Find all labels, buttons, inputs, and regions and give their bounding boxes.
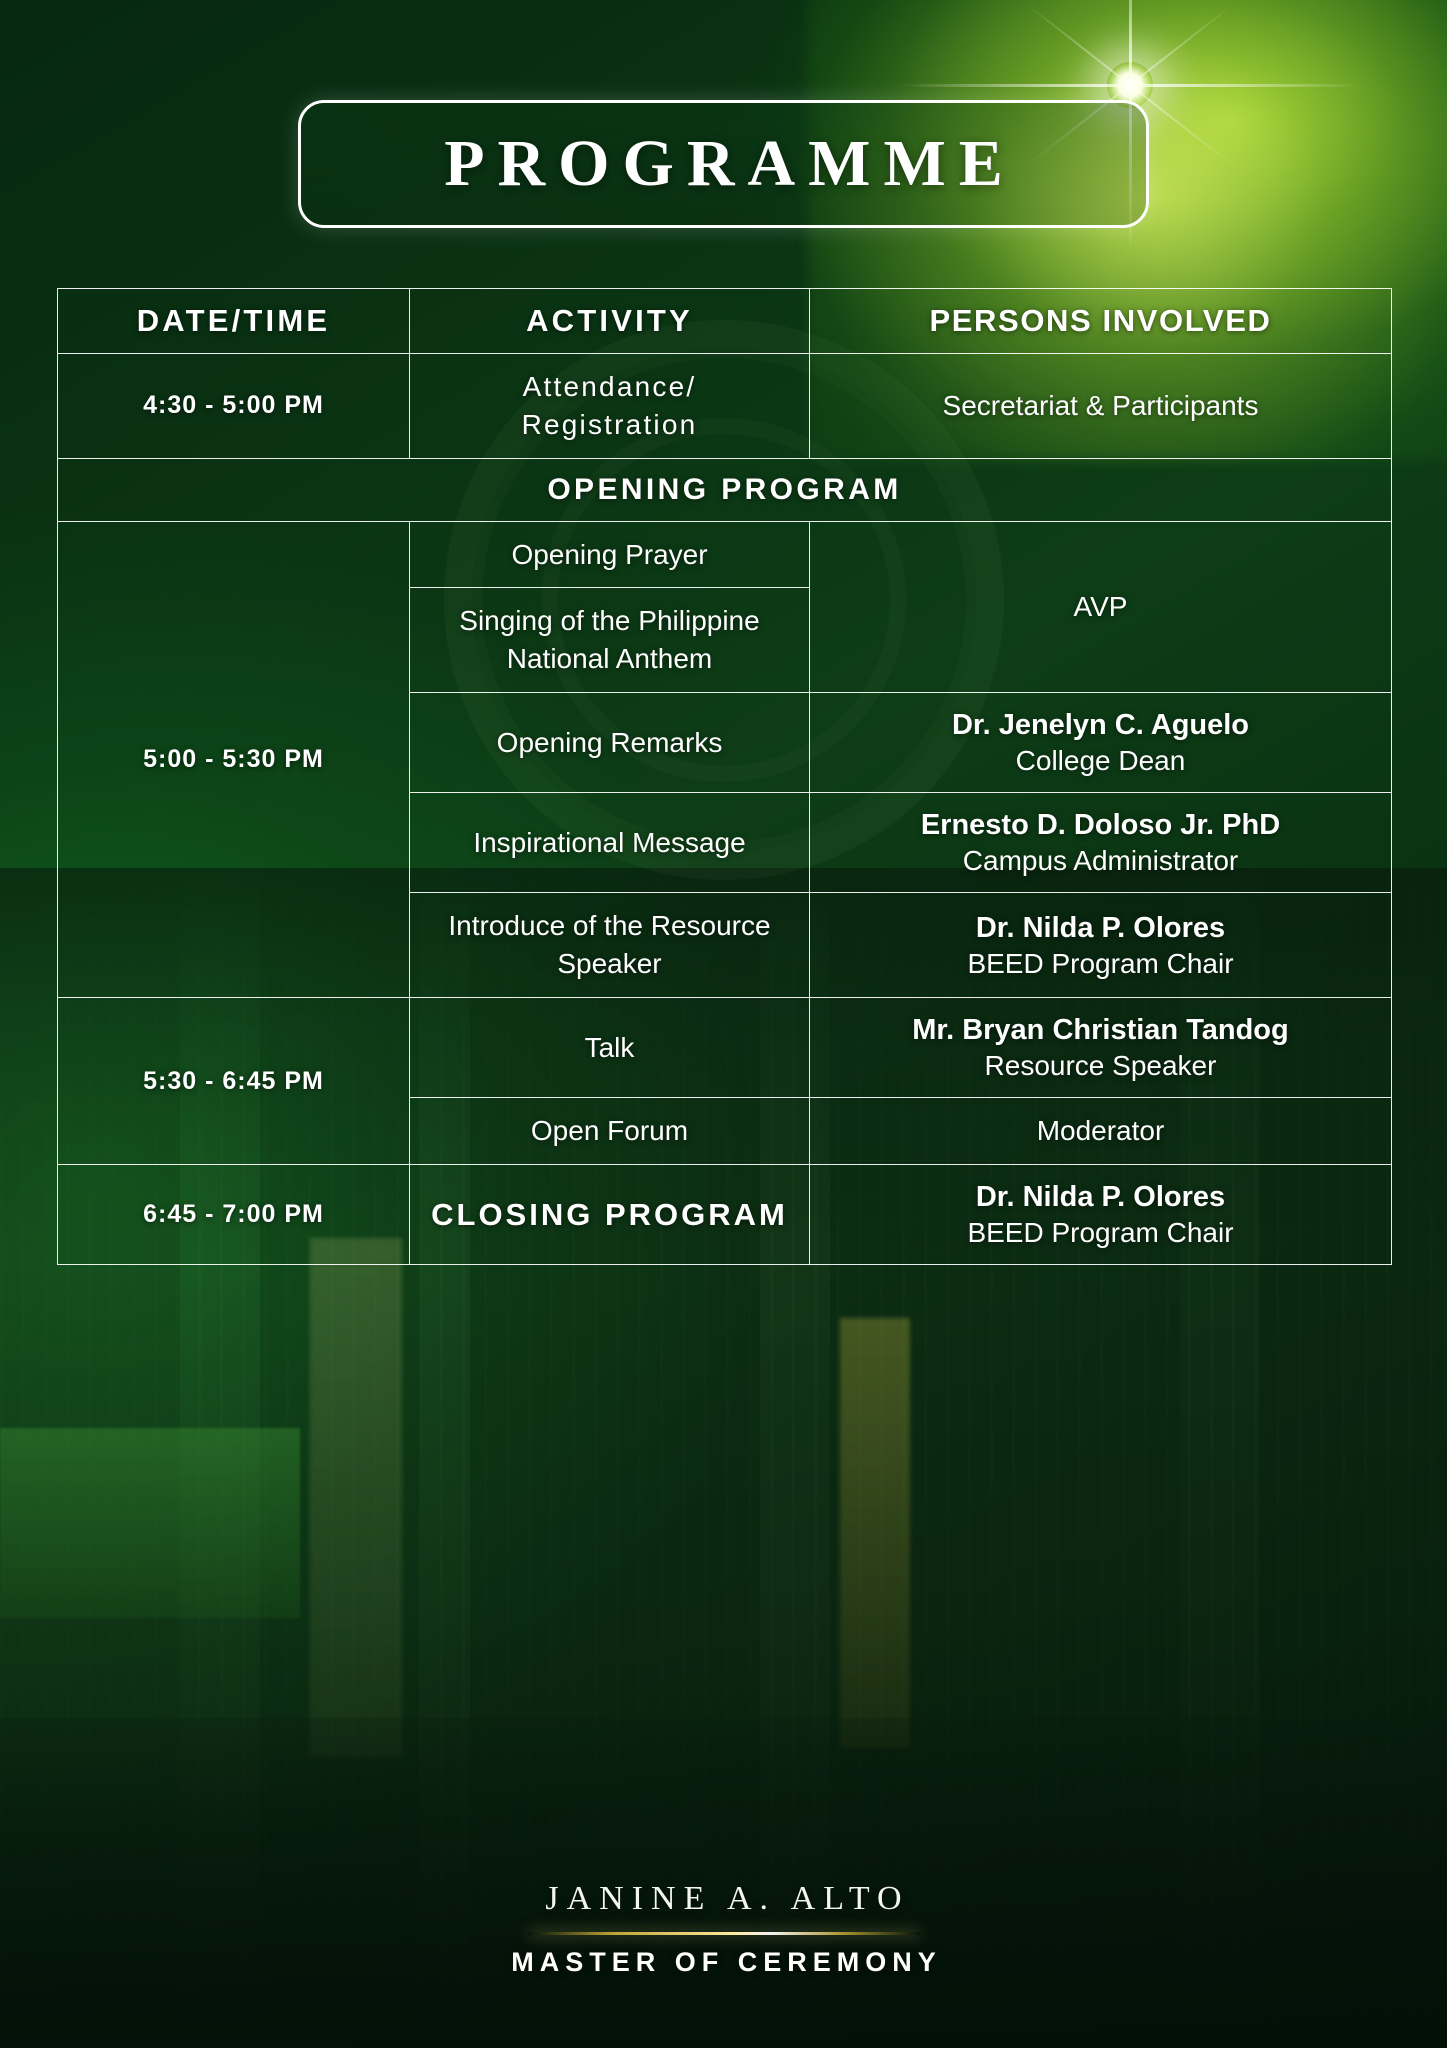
- cell-time: 5:00 - 5:30 PM: [58, 521, 410, 997]
- cell-activity: Singing of the Philippine National Anthe…: [410, 588, 810, 693]
- cell-time: 4:30 - 5:00 PM: [58, 354, 410, 459]
- cell-persons: AVP: [810, 521, 1392, 692]
- cell-activity: CLOSING PROGRAM: [410, 1165, 810, 1265]
- programme-table-wrapper: DATE/TIME ACTIVITY PERSONS INVOLVED 4:30…: [57, 288, 1391, 1265]
- cell-persons: Secretariat & Participants: [810, 354, 1392, 459]
- cell-persons: Dr. Nilda P. Olores BEED Program Chair: [810, 1165, 1392, 1265]
- table-row: 5:30 - 6:45 PM Talk Mr. Bryan Christian …: [58, 998, 1392, 1098]
- mc-role: MASTER OF CEREMONY: [0, 1947, 1447, 1978]
- cell-activity: Inspirational Message: [410, 793, 810, 893]
- programme-poster: PROGRAMME DATE/TIME ACTIVITY PERSONS INV…: [0, 0, 1447, 2048]
- cell-time: 6:45 - 7:00 PM: [58, 1165, 410, 1265]
- person-role: Resource Speaker: [820, 1048, 1381, 1083]
- cell-persons: Dr. Nilda P. Olores BEED Program Chair: [810, 893, 1392, 998]
- cell-activity: Introduce of the Resource Speaker: [410, 893, 810, 998]
- activity-line-2: Registration: [522, 409, 698, 440]
- cell-activity: Talk: [410, 998, 810, 1098]
- person-role: College Dean: [820, 743, 1381, 778]
- cell-persons: Ernesto D. Doloso Jr. PhD Campus Adminis…: [810, 793, 1392, 893]
- person-name: Dr. Nilda P. Olores: [820, 910, 1381, 946]
- person-name: Mr. Bryan Christian Tandog: [820, 1012, 1381, 1048]
- person-name: Ernesto D. Doloso Jr. PhD: [820, 807, 1381, 843]
- table-row: 5:00 - 5:30 PM Opening Prayer AVP: [58, 521, 1392, 588]
- cell-persons: Dr. Jenelyn C. Aguelo College Dean: [810, 692, 1392, 792]
- column-header-persons-involved: PERSONS INVOLVED: [810, 289, 1392, 354]
- programme-table: DATE/TIME ACTIVITY PERSONS INVOLVED 4:30…: [57, 288, 1392, 1265]
- cell-activity: Opening Prayer: [410, 521, 810, 588]
- cell-activity: Attendance/ Registration: [410, 354, 810, 459]
- column-header-activity: ACTIVITY: [410, 289, 810, 354]
- cell-persons: Mr. Bryan Christian Tandog Resource Spea…: [810, 998, 1392, 1098]
- table-header-row: DATE/TIME ACTIVITY PERSONS INVOLVED: [58, 289, 1392, 354]
- cell-persons: Moderator: [810, 1098, 1392, 1165]
- footer: JANINE A. ALTO MASTER OF CEREMONY: [0, 1880, 1447, 1978]
- person-role: BEED Program Chair: [820, 946, 1381, 981]
- cell-activity: Open Forum: [410, 1098, 810, 1165]
- title-banner: PROGRAMME: [298, 100, 1149, 228]
- column-header-date-time: DATE/TIME: [58, 289, 410, 354]
- person-role: BEED Program Chair: [820, 1215, 1381, 1250]
- table-row: 4:30 - 5:00 PM Attendance/ Registration …: [58, 354, 1392, 459]
- yellow-pillar-shape: [840, 1318, 910, 1748]
- person-name: Dr. Jenelyn C. Aguelo: [820, 707, 1381, 743]
- gold-divider: [528, 1932, 920, 1935]
- page-title: PROGRAMME: [431, 131, 1016, 197]
- person-name: Dr. Nilda P. Olores: [820, 1179, 1381, 1215]
- gate-post-shape: [310, 1238, 402, 1758]
- campus-sign-shape: [0, 1428, 300, 1618]
- section-header-opening-program: OPENING PROGRAM: [58, 458, 1392, 521]
- cell-activity: Opening Remarks: [410, 692, 810, 792]
- activity-line-1: Attendance/: [523, 371, 697, 402]
- mc-name: JANINE A. ALTO: [0, 1880, 1447, 1918]
- person-role: Campus Administrator: [820, 843, 1381, 878]
- table-section-row: OPENING PROGRAM: [58, 458, 1392, 521]
- table-row: 6:45 - 7:00 PM CLOSING PROGRAM Dr. Nilda…: [58, 1165, 1392, 1265]
- cell-time: 5:30 - 6:45 PM: [58, 998, 410, 1165]
